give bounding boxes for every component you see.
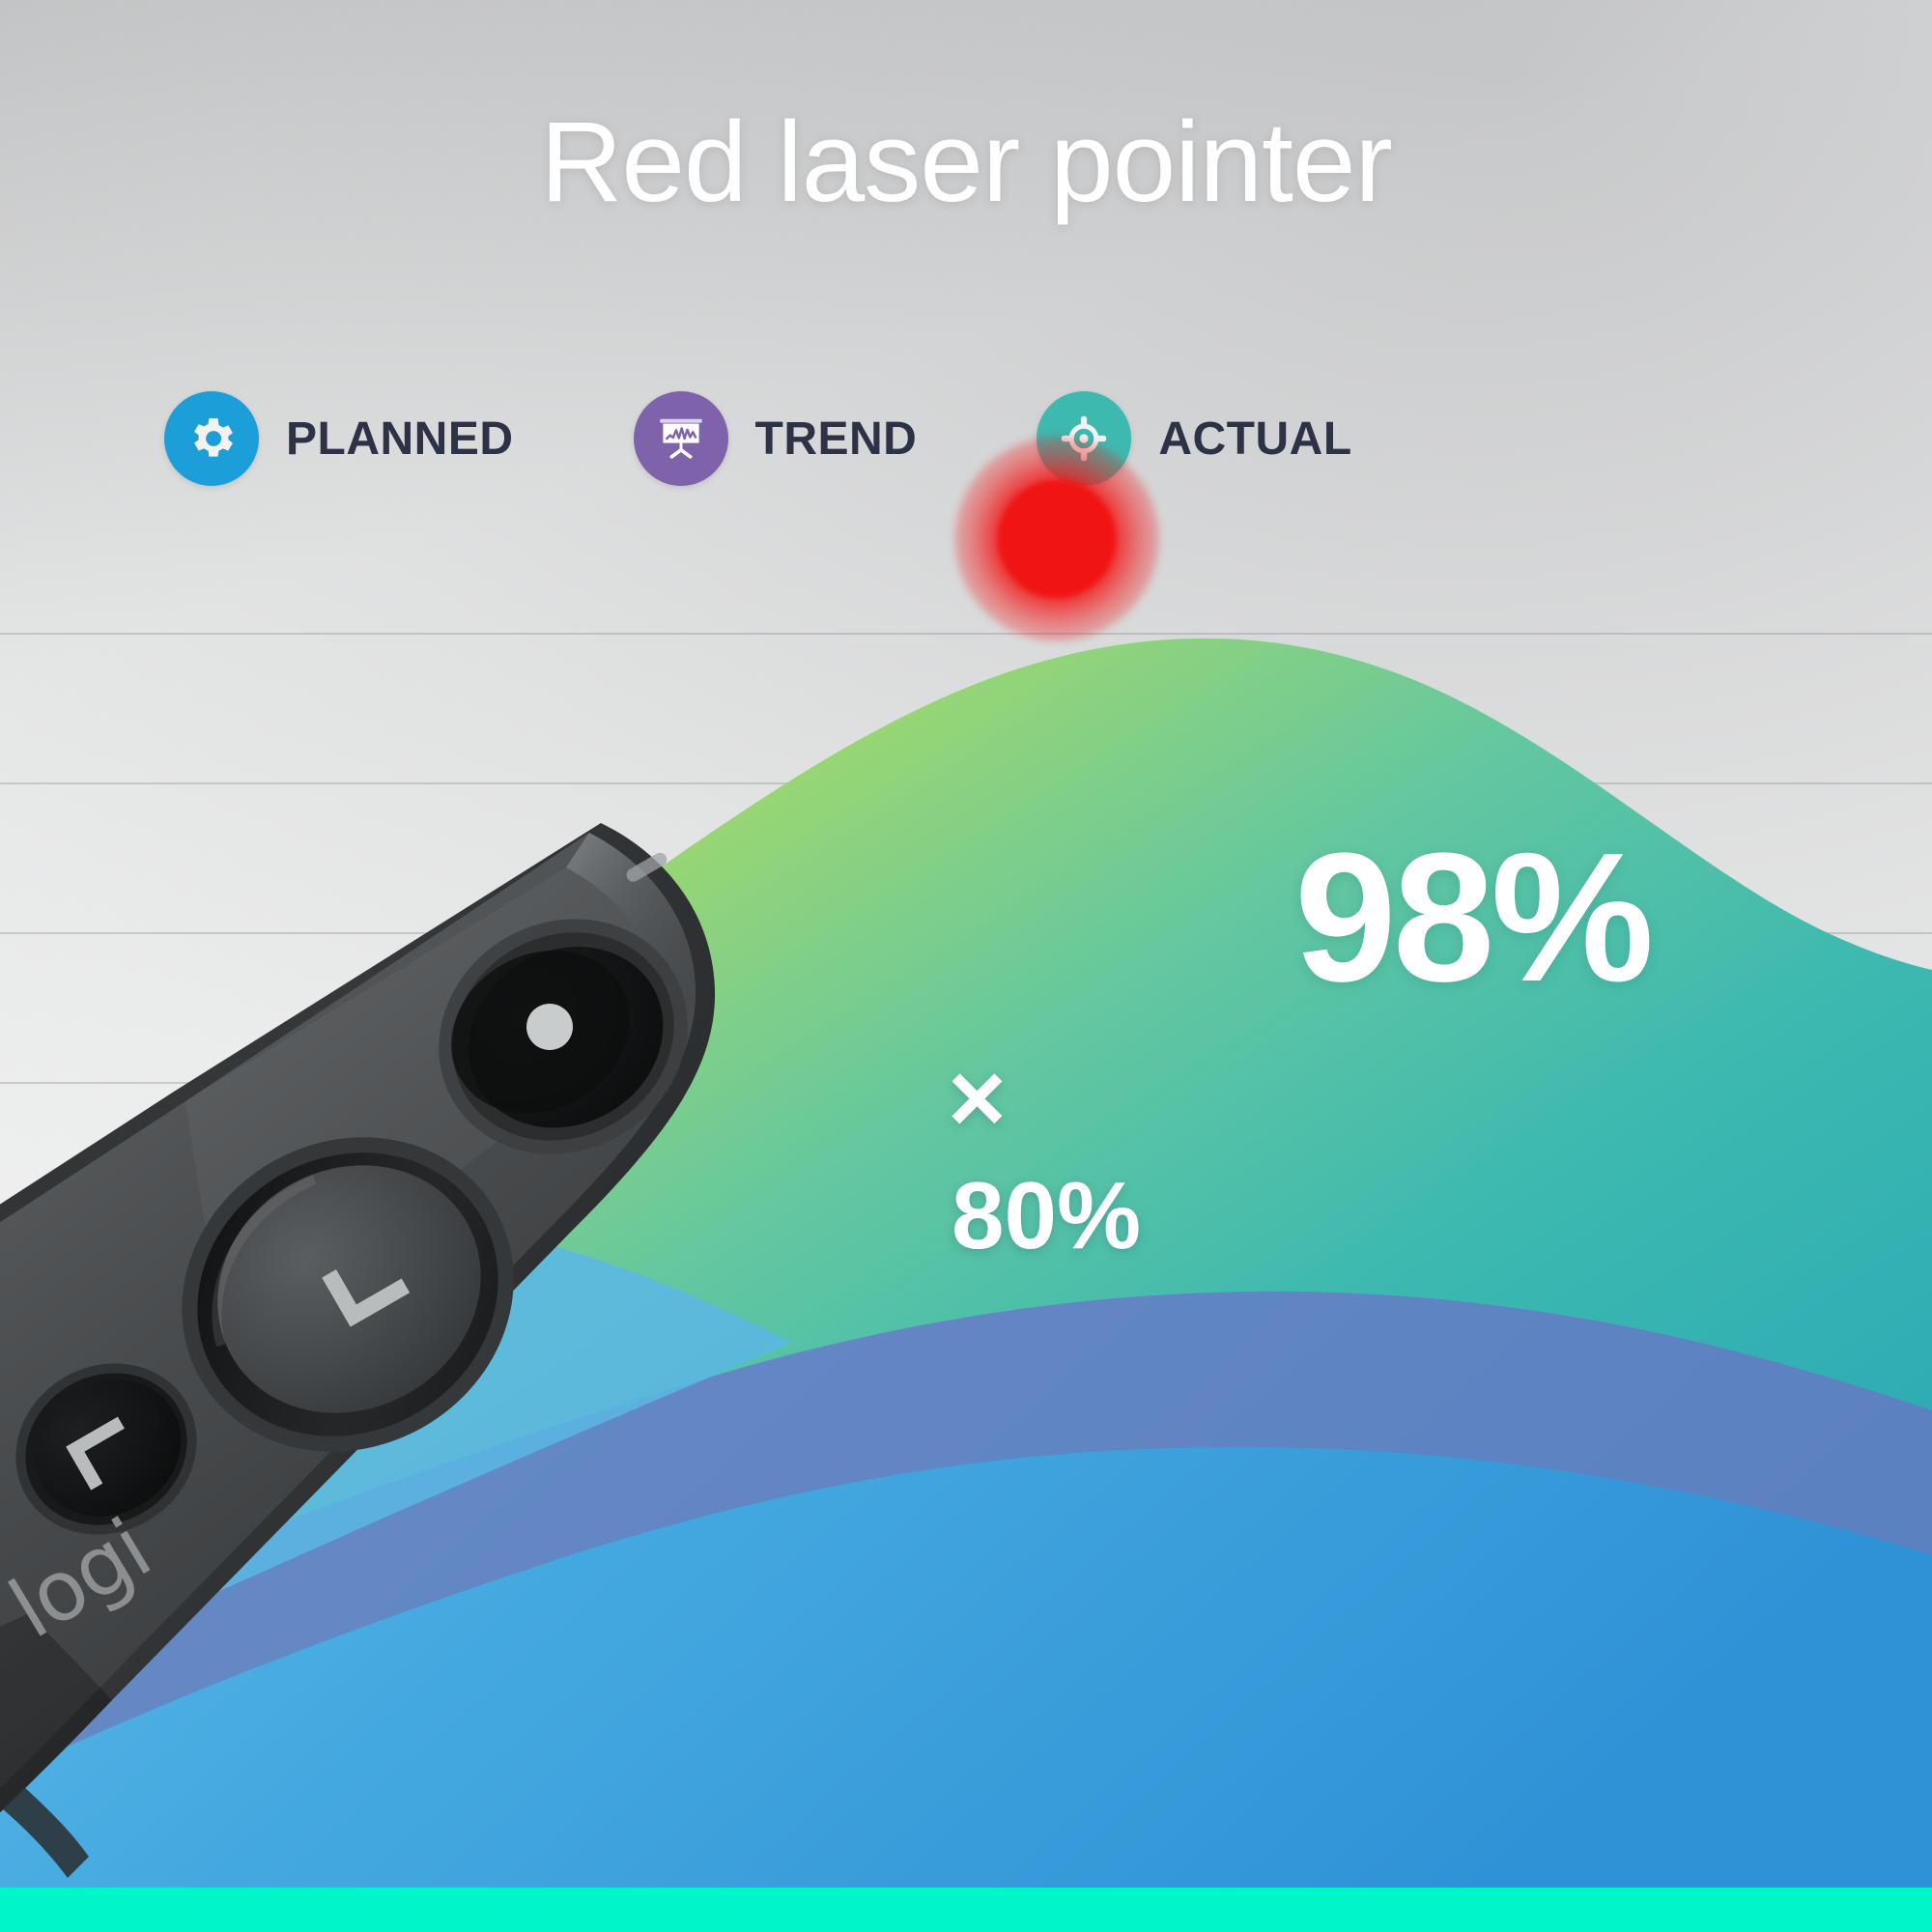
legend-item-planned[interactable]: PLANNED xyxy=(164,391,514,486)
chart-legend: PLANNED TREND xyxy=(164,391,1352,486)
x-marker-icon: × xyxy=(948,1048,1141,1149)
planned-value-text: 80% xyxy=(952,1168,1141,1263)
presentation-chart-icon xyxy=(634,391,728,486)
legend-label-trend: TREND xyxy=(755,412,918,466)
legend-label-actual: ACTUAL xyxy=(1158,412,1351,466)
legend-label-planned: PLANNED xyxy=(286,412,514,466)
body-seam xyxy=(111,1710,222,1835)
actual-value-callout: 98% xyxy=(1294,826,1650,1009)
presentation-remote-device xyxy=(0,811,908,1932)
gear-icon xyxy=(164,391,259,486)
laser-button-dot xyxy=(526,1004,573,1050)
legend-item-trend[interactable]: TREND xyxy=(634,391,918,486)
page-title: Red laser pointer xyxy=(0,100,1932,226)
side-port xyxy=(2,1787,89,1878)
planned-value-callout: × 80% xyxy=(952,1048,1141,1263)
product-marketing-slide: Red laser pointer PLANNED TREND xyxy=(0,0,1932,1932)
red-laser-dot xyxy=(998,480,1116,598)
